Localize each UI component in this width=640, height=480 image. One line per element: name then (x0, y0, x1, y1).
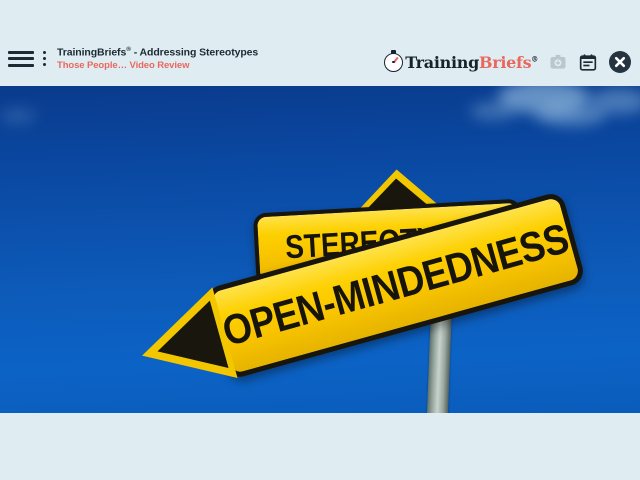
stopwatch-icon (384, 53, 403, 72)
kebab-menu-icon[interactable] (41, 49, 47, 69)
slide-stage[interactable]: STEREOTYPES OPEN-MINDEDNESS 1 2 3 (0, 86, 640, 413)
kebab-dot (43, 57, 46, 60)
header-left-group: TrainingBriefs® - Addressing Stereotypes… (8, 46, 258, 71)
brand-registered-mark: ® (531, 54, 538, 63)
hamburger-bar (8, 57, 34, 60)
bottom-bar (0, 413, 640, 480)
brand-logo-text: TrainingBriefs® (405, 53, 538, 72)
title-block: TrainingBriefs® - Addressing Stereotypes… (57, 46, 258, 71)
hamburger-bar (8, 51, 34, 54)
close-icon[interactable] (608, 50, 632, 74)
page-title: TrainingBriefs® - Addressing Stereotypes (57, 46, 258, 59)
brand-name-part1: Training (405, 53, 479, 72)
kebab-dot (43, 51, 46, 54)
notes-icon[interactable] (578, 51, 598, 73)
kebab-dot (43, 63, 46, 66)
header-right-group: TrainingBriefs® (384, 50, 632, 74)
stopwatch-pivot (392, 61, 395, 64)
page-title-suffix: - Addressing Stereotypes (131, 47, 258, 59)
cloud-shape (0, 108, 36, 124)
page-subtitle: Those People… Video Review (57, 61, 258, 71)
brand-name-part2: Briefs (479, 53, 531, 72)
app-header: TrainingBriefs® - Addressing Stereotypes… (0, 0, 640, 86)
brand-logo: TrainingBriefs® (384, 53, 538, 72)
cloud-shape (590, 88, 640, 114)
download-icon[interactable] (548, 51, 568, 73)
cloud-shape (470, 102, 516, 120)
hamburger-bar (8, 64, 34, 67)
page-title-brand: TrainingBriefs (57, 47, 126, 59)
hamburger-menu-icon[interactable] (8, 49, 34, 69)
